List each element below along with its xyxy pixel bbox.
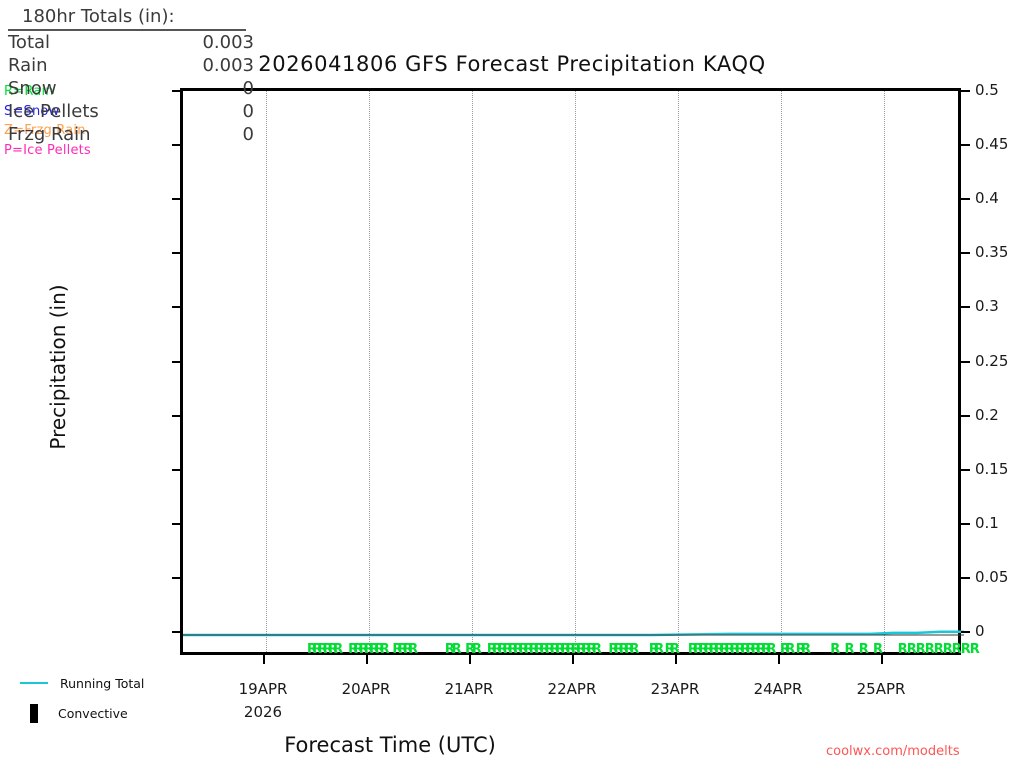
totals-header: 180hr Totals (in): bbox=[8, 5, 246, 31]
x-tick-label: 24APR bbox=[754, 680, 803, 698]
x-tick-label: 20APR bbox=[342, 680, 391, 698]
y-tickmark-left bbox=[172, 415, 181, 417]
y-tickmark-right bbox=[961, 198, 970, 200]
precip-type-marker-rain: R bbox=[970, 643, 980, 656]
totals-row: Ice Pellets 0 bbox=[8, 100, 266, 123]
y-tickmark-left bbox=[172, 252, 181, 254]
x-tickmark bbox=[778, 655, 780, 664]
x-tickmark bbox=[263, 655, 265, 664]
y-tickmark-left bbox=[172, 144, 181, 146]
totals-label-ice-pellets: Ice Pellets bbox=[8, 100, 99, 123]
y-tick-label-right: 0.3 bbox=[975, 297, 999, 315]
totals-value-ice-pellets: 0 bbox=[243, 100, 266, 123]
y-tickmark-left bbox=[172, 523, 181, 525]
x-tickmark bbox=[675, 655, 677, 664]
totals-row: Total 0.003 bbox=[8, 31, 266, 54]
totals-value-snow: 0 bbox=[243, 77, 266, 100]
y-tick-label-right: 0 bbox=[975, 622, 985, 640]
totals-row: Frzg Rain 0 bbox=[8, 123, 266, 146]
y-tick-label-right: 0.35 bbox=[975, 243, 1008, 261]
y-tick-label-right: 0.25 bbox=[975, 352, 1008, 370]
legend-entry-running-total: Running Total bbox=[10, 668, 144, 698]
legend-label-convective: Convective bbox=[58, 706, 128, 721]
y-tickmark-right bbox=[961, 631, 970, 633]
y-tickmark-right bbox=[961, 252, 970, 254]
x-tick-label: 22APR bbox=[548, 680, 597, 698]
y-tickmark-right bbox=[961, 523, 970, 525]
y-tick-label-right: 0.2 bbox=[975, 406, 999, 424]
y-tickmark-right bbox=[961, 361, 970, 363]
x-tickmark bbox=[881, 655, 883, 664]
series-running-total bbox=[183, 91, 964, 658]
x-tick-label: 19APR bbox=[239, 680, 288, 698]
y-tick-label-right: 0.05 bbox=[975, 568, 1008, 586]
legend-label-running-total: Running Total bbox=[60, 676, 144, 691]
x-axis-year-label: 2026 bbox=[244, 703, 282, 721]
totals-value-total: 0.003 bbox=[202, 31, 266, 54]
y-tickmark-left bbox=[172, 631, 181, 633]
y-tickmark-right bbox=[961, 577, 970, 579]
totals-label-rain: Rain bbox=[8, 54, 48, 77]
totals-label-total: Total bbox=[8, 31, 50, 54]
x-tick-label: 21APR bbox=[445, 680, 494, 698]
totals-row: Rain 0.003 bbox=[8, 54, 266, 77]
totals-value-rain: 0.003 bbox=[202, 54, 266, 77]
series-legend: Running Total Convective bbox=[10, 668, 144, 728]
x-tickmark bbox=[572, 655, 574, 664]
x-tickmark bbox=[366, 655, 368, 664]
x-tickmark bbox=[469, 655, 471, 664]
x-tick-label: 23APR bbox=[651, 680, 700, 698]
y-tickmark-left bbox=[172, 198, 181, 200]
x-tick-label: 25APR bbox=[857, 680, 906, 698]
y-tickmark-left bbox=[172, 90, 181, 92]
totals-row: Snow 0 bbox=[8, 77, 266, 100]
x-axis-title: Forecast Time (UTC) bbox=[180, 733, 600, 757]
y-tick-label-right: 0.1 bbox=[975, 514, 999, 532]
y-tickmark-right bbox=[961, 306, 970, 308]
y-tickmark-left bbox=[172, 361, 181, 363]
line-swatch-icon bbox=[20, 682, 48, 684]
y-axis-title: Precipitation (in) bbox=[46, 252, 70, 482]
y-tickmark-right bbox=[961, 415, 970, 417]
y-tick-label-right: 0.45 bbox=[975, 135, 1008, 153]
y-tickmark-right bbox=[961, 144, 970, 146]
y-tickmark-right bbox=[961, 90, 970, 92]
y-tick-label-right: 0.15 bbox=[975, 460, 1008, 478]
totals-box: 180hr Totals (in): Total 0.003 Rain 0.00… bbox=[8, 5, 266, 146]
bar-swatch-icon bbox=[30, 704, 38, 723]
totals-label-snow: Snow bbox=[8, 77, 57, 100]
y-tickmark-left bbox=[172, 306, 181, 308]
y-tickmark-left bbox=[172, 577, 181, 579]
y-tick-label-right: 0.5 bbox=[975, 81, 999, 99]
y-tickmark-left bbox=[172, 469, 181, 471]
totals-value-frzg-rain: 0 bbox=[243, 123, 266, 146]
totals-label-frzg-rain: Frzg Rain bbox=[8, 123, 91, 146]
legend-entry-convective: Convective bbox=[10, 698, 144, 728]
watermark: coolwx.com/modelts bbox=[826, 744, 960, 759]
plot-area: RRRRRRRRRRRRRRRRRRRRRRRRRRRRRRRRRRRRRRRR… bbox=[180, 88, 961, 655]
y-tickmark-right bbox=[961, 469, 970, 471]
y-tick-label-right: 0.4 bbox=[975, 189, 999, 207]
